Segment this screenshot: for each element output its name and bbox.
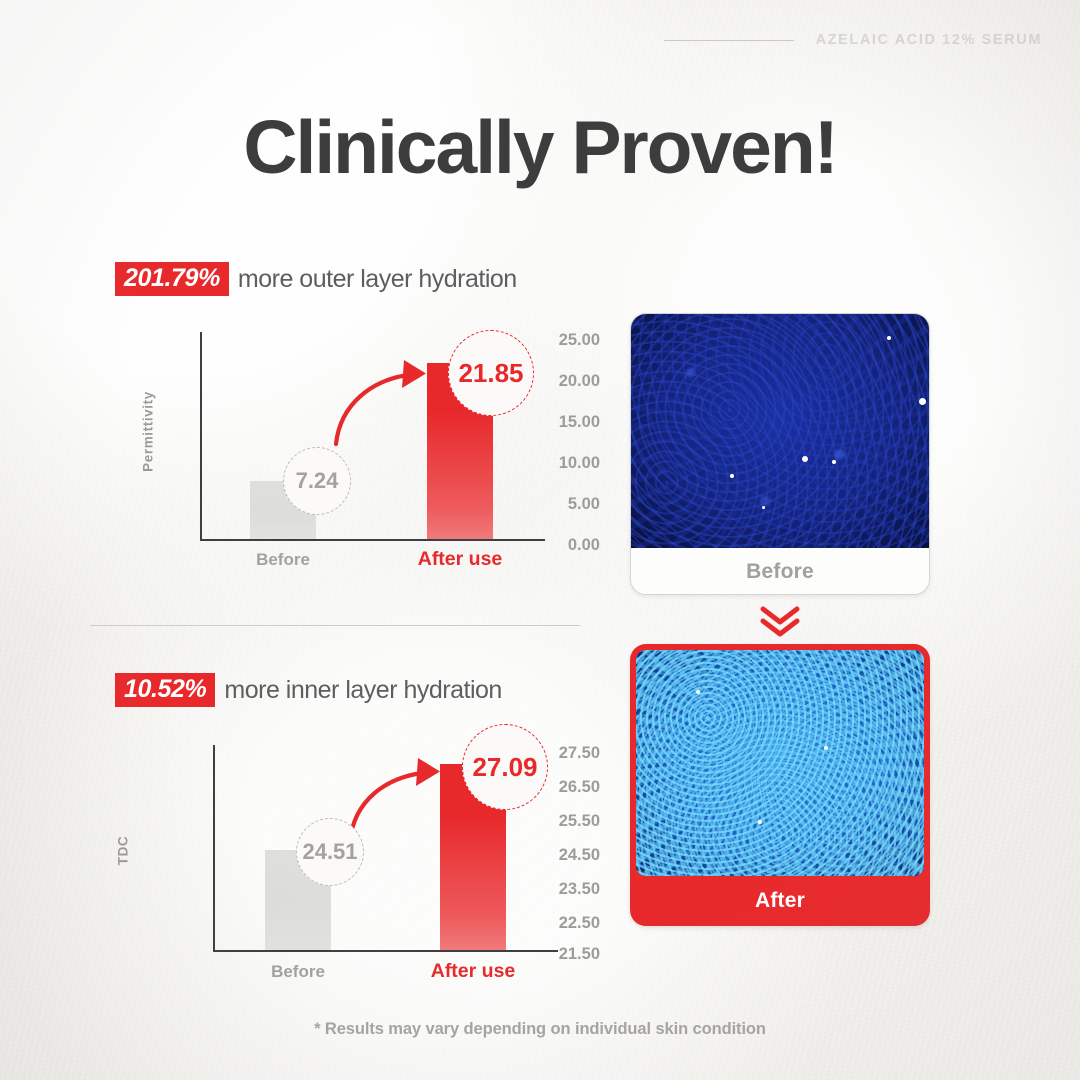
- micrograph-after: [636, 650, 924, 876]
- chevron-double-down-icon: [750, 604, 810, 640]
- highlight-speck: [919, 398, 926, 405]
- chart2-category-after: After use: [413, 960, 533, 983]
- footnote-disclaimer: * Results may vary depending on individu…: [0, 1020, 1080, 1039]
- photo-card-after: After: [630, 644, 930, 926]
- highlight-speck: [696, 690, 700, 694]
- header: AZELAIC ACID 12% SERUM: [664, 32, 1042, 48]
- photo-card-before: Before: [630, 313, 930, 595]
- highlight-speck: [762, 506, 765, 509]
- highlight-speck: [730, 474, 734, 478]
- highlight-speck: [832, 460, 836, 464]
- chart2-y-axis-label: TDC: [116, 816, 131, 886]
- micrograph-before: [631, 314, 929, 548]
- highlight-speck: [887, 336, 891, 340]
- highlight-speck: [824, 746, 828, 750]
- highlight-speck: [758, 820, 762, 824]
- chart-tdc: TDC 27.50 26.50 25.50 24.50 23.50 22.50 …: [0, 0, 600, 1010]
- chart2-value-badge-before: 24.51: [296, 818, 364, 886]
- header-divider-line: [664, 40, 794, 41]
- photo-caption-before: Before: [631, 548, 929, 595]
- product-name-label: AZELAIC ACID 12% SERUM: [816, 32, 1042, 48]
- photo-caption-after: After: [636, 876, 924, 926]
- chart2-category-before: Before: [248, 962, 348, 982]
- chart2-x-axis-line: [213, 950, 558, 952]
- highlight-speck: [802, 456, 808, 462]
- chart2-y-axis-line: [213, 745, 215, 951]
- chart2-value-badge-after: 27.09: [462, 724, 548, 810]
- chart2-growth-arrow: [344, 752, 454, 844]
